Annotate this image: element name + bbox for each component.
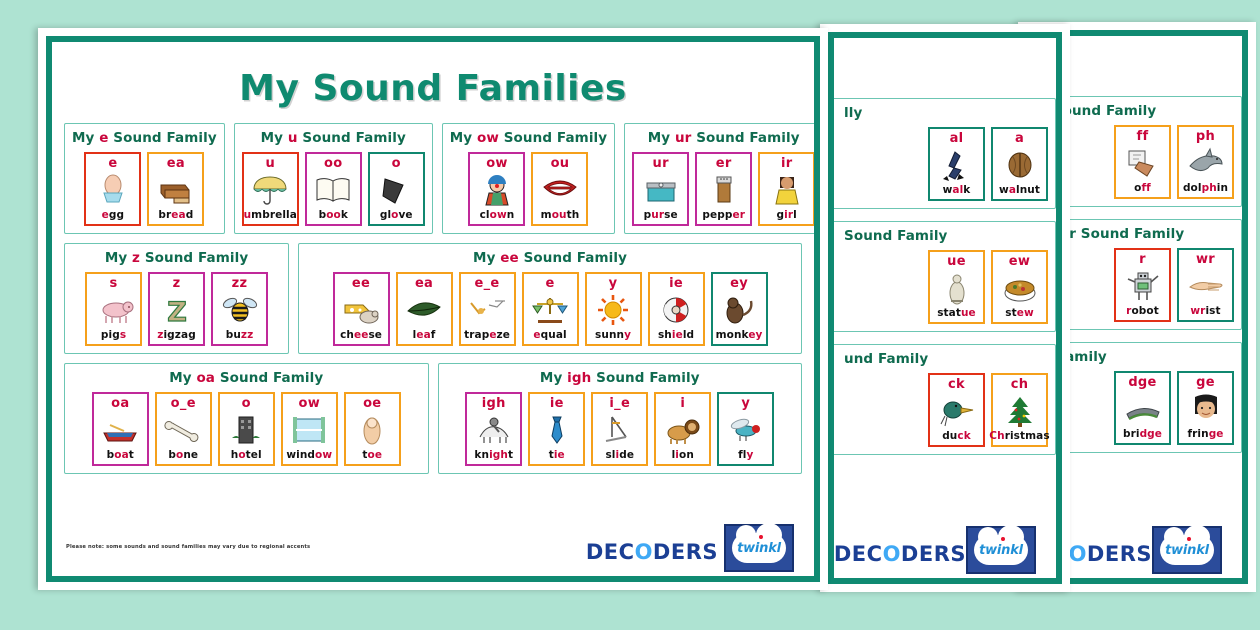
card-grapheme: ur bbox=[653, 156, 669, 171]
card-list: uumbrellaoobookoglove bbox=[242, 152, 425, 226]
card-word: fringe bbox=[1187, 428, 1223, 441]
card-list: alwalkawalnut bbox=[828, 127, 1048, 201]
sound-card-ew[interactable]: ewstew bbox=[991, 250, 1048, 324]
card-word: egg bbox=[102, 209, 124, 222]
fly-icon bbox=[720, 411, 771, 449]
sound-card-ff[interactable]: ffoff bbox=[1114, 125, 1171, 199]
sound-card-ch[interactable]: chChristmas bbox=[991, 373, 1048, 447]
sound-card-er[interactable]: erpepper bbox=[695, 152, 752, 226]
walnut-icon bbox=[994, 146, 1045, 184]
family-title: My e Sound Family bbox=[72, 130, 217, 146]
card-word: robot bbox=[1126, 305, 1159, 318]
twinkl-wordmark: twinkl bbox=[737, 541, 781, 556]
card-word: stew bbox=[1005, 307, 1034, 320]
card-grapheme: dge bbox=[1128, 375, 1156, 390]
sound-card-i[interactable]: ilion bbox=[654, 392, 711, 466]
card-grapheme: s bbox=[110, 276, 118, 291]
sound-family-u: My u Sound Familyuumbrellaoobookoglove bbox=[234, 123, 433, 234]
family-title: My ur Sound Family bbox=[632, 130, 815, 146]
leaf-icon bbox=[399, 291, 450, 329]
card-grapheme: y bbox=[741, 396, 750, 411]
sound-card-oe[interactable]: oetoe bbox=[344, 392, 401, 466]
card-grapheme: ie bbox=[550, 396, 564, 411]
card-grapheme: ck bbox=[948, 377, 965, 392]
card-grapheme: r bbox=[1139, 252, 1146, 267]
card-list: owclownoumouth bbox=[450, 152, 607, 226]
sound-card-e_e[interactable]: e_etrapeze bbox=[459, 272, 516, 346]
twinkl-badge: twinkl bbox=[966, 526, 1036, 574]
card-word: boat bbox=[107, 449, 134, 462]
family-title: My u Sound Family bbox=[242, 130, 425, 146]
card-word: monkey bbox=[716, 329, 763, 342]
card-grapheme: ff bbox=[1137, 129, 1149, 144]
card-grapheme: y bbox=[609, 276, 618, 291]
egg-in-cup-icon bbox=[87, 171, 138, 209]
card-grapheme: ow bbox=[486, 156, 508, 171]
sound-card-ph[interactable]: phdolphin bbox=[1177, 125, 1234, 199]
twinkl-wordmark: twinkl bbox=[979, 543, 1023, 558]
card-grapheme: i bbox=[680, 396, 685, 411]
card-word: fly bbox=[738, 449, 753, 462]
card-word: trapeze bbox=[464, 329, 510, 342]
card-list: urpurseerpepperirgirl bbox=[632, 152, 815, 226]
card-grapheme: e bbox=[108, 156, 117, 171]
twinkl-badge: twinkl bbox=[724, 524, 794, 572]
bridge-icon bbox=[1117, 390, 1168, 428]
sound-card-ck[interactable]: ckduck bbox=[928, 373, 985, 447]
girl-icon bbox=[761, 171, 812, 209]
card-word: buzz bbox=[226, 329, 254, 342]
background-family-1: Sound Familyuestatueewstew bbox=[828, 221, 1056, 332]
card-grapheme: o bbox=[242, 396, 251, 411]
card-word: duck bbox=[942, 430, 971, 443]
fringe-face-icon bbox=[1180, 390, 1231, 428]
scales-icon bbox=[525, 291, 576, 329]
family-title: My ee Sound Family bbox=[306, 250, 794, 266]
card-word: lion bbox=[672, 449, 694, 462]
poster-stage: f Sound FamilyffoffphdolphinMy r Sound F… bbox=[0, 0, 1260, 630]
sound-card-o_e[interactable]: o_ebone bbox=[155, 392, 212, 466]
card-word: book bbox=[319, 209, 348, 222]
card-grapheme: e bbox=[545, 276, 554, 291]
card-grapheme: o bbox=[392, 156, 401, 171]
sound-card-dge[interactable]: dgebridge bbox=[1114, 371, 1171, 445]
family-row-2: My oa Sound Familyoaboato_eboneohoteloww… bbox=[64, 363, 802, 474]
sound-card-o[interactable]: ohotel bbox=[218, 392, 275, 466]
umbrella-icon bbox=[245, 171, 296, 209]
sheet-footer: Please note: some sounds and sound famil… bbox=[52, 524, 814, 576]
card-word: bone bbox=[168, 449, 198, 462]
shield-icon bbox=[651, 291, 702, 329]
pepper-shaker-icon bbox=[698, 171, 749, 209]
sound-card-ow[interactable]: owclown bbox=[468, 152, 525, 226]
monkey-icon bbox=[714, 291, 765, 329]
sound-card-e[interactable]: eequal bbox=[522, 272, 579, 346]
sound-card-y[interactable]: yfly bbox=[717, 392, 774, 466]
sound-card-r[interactable]: rrobot bbox=[1114, 248, 1171, 322]
card-grapheme: igh bbox=[482, 396, 506, 411]
card-word: wrist bbox=[1190, 305, 1220, 318]
bone-icon bbox=[158, 411, 209, 449]
purse-icon bbox=[635, 171, 686, 209]
card-word: Christmas bbox=[989, 430, 1049, 443]
regional-accents-note: Please note: some sounds and sound famil… bbox=[66, 544, 310, 550]
family-title: My oa Sound Family bbox=[72, 370, 421, 386]
hotel-icon bbox=[221, 411, 272, 449]
sound-family-z: My z Sound FamilyspigszZzigzagzzbuzz bbox=[64, 243, 289, 354]
sound-card-s[interactable]: spigs bbox=[85, 272, 142, 346]
card-word: bridge bbox=[1123, 428, 1162, 441]
twinkl-cloud-icon: twinkl bbox=[732, 533, 786, 563]
sound-family-ee: My ee Sound Familyeecheeseealeafe_etrape… bbox=[298, 243, 802, 354]
card-word: statue bbox=[937, 307, 976, 320]
card-grapheme: i_e bbox=[609, 396, 630, 411]
card-word: cheese bbox=[340, 329, 382, 342]
dolphin-icon bbox=[1180, 144, 1231, 182]
card-grapheme: ou bbox=[551, 156, 570, 171]
card-word: equal bbox=[533, 329, 566, 342]
background-family-2: und FamilyckduckchChristmas bbox=[828, 344, 1056, 455]
sun-icon bbox=[588, 291, 639, 329]
family-row-0: My e Sound FamilyeeggeabreadMy u Sound F… bbox=[64, 123, 802, 234]
twinkl-dot-icon bbox=[759, 535, 763, 539]
decoders-logo: DECODERS bbox=[834, 542, 966, 566]
twinkl-cloud-icon: twinkl bbox=[974, 535, 1028, 565]
family-title: My igh Sound Family bbox=[446, 370, 795, 386]
family-title: My z Sound Family bbox=[72, 250, 281, 266]
twinkl-cloud-icon: twinkl bbox=[1160, 535, 1214, 565]
card-word: walnut bbox=[999, 184, 1040, 197]
card-grapheme: wr bbox=[1196, 252, 1215, 267]
knight-icon bbox=[468, 411, 519, 449]
card-word: pepper bbox=[702, 209, 745, 222]
card-grapheme: ge bbox=[1196, 375, 1215, 390]
card-word: off bbox=[1134, 182, 1151, 195]
page-title: My Sound Families bbox=[64, 68, 802, 109]
card-word: purse bbox=[644, 209, 678, 222]
lion-icon bbox=[657, 411, 708, 449]
sound-card-ow[interactable]: owwindow bbox=[281, 392, 338, 466]
card-word: toe bbox=[362, 449, 382, 462]
walk-icon bbox=[931, 146, 982, 184]
twinkl-wordmark: twinkl bbox=[1165, 543, 1209, 558]
card-list: uestatueewstew bbox=[828, 250, 1048, 324]
card-word: glove bbox=[380, 209, 413, 222]
sound-family-rows: My e Sound FamilyeeggeabreadMy u Sound F… bbox=[64, 123, 802, 474]
clown-icon bbox=[471, 171, 522, 209]
card-word: sunny bbox=[595, 329, 631, 342]
card-grapheme: ee bbox=[352, 276, 370, 291]
card-list: ighknightietiei_eslideilionyfly bbox=[446, 392, 795, 466]
card-grapheme: e_e bbox=[475, 276, 500, 291]
main-sheet: My Sound Families My e Sound Familyeegge… bbox=[38, 28, 828, 590]
sound-card-ie[interactable]: ieshield bbox=[648, 272, 705, 346]
twinkl-badge: twinkl bbox=[1152, 526, 1222, 574]
card-list: eeggeabread bbox=[72, 152, 217, 226]
tie-icon bbox=[531, 411, 582, 449]
sound-card-z[interactable]: zZzigzag bbox=[148, 272, 205, 346]
toe-icon bbox=[347, 411, 398, 449]
card-grapheme: oo bbox=[324, 156, 342, 171]
glove-icon bbox=[371, 171, 422, 209]
trapeze-icon bbox=[462, 291, 513, 329]
sound-card-ea[interactable]: ealeaf bbox=[396, 272, 453, 346]
sound-family-oa: My oa Sound Familyoaboato_eboneohoteloww… bbox=[64, 363, 429, 474]
card-word: knight bbox=[474, 449, 513, 462]
card-word: hotel bbox=[231, 449, 262, 462]
card-grapheme: ph bbox=[1196, 129, 1215, 144]
pigs-icon bbox=[88, 291, 139, 329]
cheese-mouse-icon bbox=[336, 291, 387, 329]
card-word: mouth bbox=[541, 209, 580, 222]
card-grapheme: oe bbox=[363, 396, 381, 411]
sound-card-ir[interactable]: irgirl bbox=[758, 152, 815, 226]
card-word: girl bbox=[777, 209, 797, 222]
sound-card-i_e[interactable]: i_eslide bbox=[591, 392, 648, 466]
card-word: dolphin bbox=[1183, 182, 1228, 195]
background-family-title: Sound Family bbox=[828, 228, 1048, 244]
sound-card-ue[interactable]: uestatue bbox=[928, 250, 985, 324]
sound-card-a[interactable]: awalnut bbox=[991, 127, 1048, 201]
card-list: oaboato_eboneohotelowwindowoetoe bbox=[72, 392, 421, 466]
sound-family-e: My e Sound Familyeeggeabread bbox=[64, 123, 225, 234]
sound-card-o[interactable]: oglove bbox=[368, 152, 425, 226]
background-footer: DECODERStwinkl bbox=[834, 526, 1056, 578]
sound-card-ea[interactable]: eabread bbox=[147, 152, 204, 226]
boat-icon bbox=[95, 411, 146, 449]
open-book-icon bbox=[308, 171, 359, 209]
christmas-tree-icon bbox=[994, 392, 1045, 430]
off-switch-icon bbox=[1117, 144, 1168, 182]
card-grapheme: z bbox=[173, 276, 181, 291]
decoders-logo: DECODERS bbox=[586, 540, 718, 564]
card-grapheme: ow bbox=[298, 396, 320, 411]
duck-icon bbox=[931, 392, 982, 430]
card-word: window bbox=[286, 449, 332, 462]
svg-text:Z: Z bbox=[167, 297, 187, 327]
sound-card-igh[interactable]: ighknight bbox=[465, 392, 522, 466]
card-grapheme: oa bbox=[111, 396, 129, 411]
sound-family-igh: My igh Sound Familyighknightietiei_eslid… bbox=[438, 363, 803, 474]
mouth-icon bbox=[534, 171, 585, 209]
sound-card-zz[interactable]: zzbuzz bbox=[211, 272, 268, 346]
sound-card-al[interactable]: alwalk bbox=[928, 127, 985, 201]
card-word: umbrella bbox=[244, 209, 297, 222]
sound-card-wr[interactable]: wrwrist bbox=[1177, 248, 1234, 322]
bread-loaf-icon bbox=[150, 171, 201, 209]
card-list: eecheeseealeafe_etrapezeeequalysunnyiesh… bbox=[306, 272, 794, 346]
card-word: leaf bbox=[413, 329, 436, 342]
stew-icon bbox=[994, 269, 1045, 307]
letter-z-icon: Z bbox=[151, 291, 202, 329]
card-grapheme: er bbox=[716, 156, 732, 171]
card-word: bread bbox=[158, 209, 193, 222]
card-grapheme: ue bbox=[947, 254, 966, 269]
background-family-title: lly bbox=[828, 105, 1048, 121]
sound-card-ie[interactable]: ietie bbox=[528, 392, 585, 466]
card-grapheme: al bbox=[950, 131, 964, 146]
background-sheet-middle: llyalwalkawalnutSound Familyuestatueewst… bbox=[820, 24, 1070, 592]
card-word: slide bbox=[605, 449, 634, 462]
card-grapheme: ea bbox=[167, 156, 185, 171]
card-grapheme: ie bbox=[669, 276, 683, 291]
card-word: tie bbox=[549, 449, 565, 462]
sound-card-oo[interactable]: oobook bbox=[305, 152, 362, 226]
sound-card-ge[interactable]: gefringe bbox=[1177, 371, 1234, 445]
sound-card-ou[interactable]: oumouth bbox=[531, 152, 588, 226]
sound-family-ow: My ow Sound Familyowclownoumouth bbox=[442, 123, 615, 234]
sound-card-ur[interactable]: urpurse bbox=[632, 152, 689, 226]
background-family-0: llyalwalkawalnut bbox=[828, 98, 1056, 209]
sound-family-ur: My ur Sound Familyurpurseerpepperirgirl bbox=[624, 123, 820, 234]
card-grapheme: ir bbox=[781, 156, 792, 171]
card-grapheme: zz bbox=[232, 276, 248, 291]
statue-icon bbox=[931, 269, 982, 307]
card-word: zigzag bbox=[157, 329, 196, 342]
sound-card-ey[interactable]: eymonkey bbox=[711, 272, 768, 346]
sound-card-oa[interactable]: oaboat bbox=[92, 392, 149, 466]
card-word: walk bbox=[943, 184, 971, 197]
card-grapheme: ch bbox=[1011, 377, 1029, 392]
twinkl-dot-icon bbox=[1001, 537, 1005, 541]
slide-icon bbox=[594, 411, 645, 449]
wrist-icon bbox=[1180, 267, 1231, 305]
window-icon bbox=[284, 411, 335, 449]
card-word: clown bbox=[480, 209, 515, 222]
sound-card-y[interactable]: ysunny bbox=[585, 272, 642, 346]
card-grapheme: ew bbox=[1009, 254, 1030, 269]
card-grapheme: u bbox=[265, 156, 275, 171]
bee-icon bbox=[214, 291, 265, 329]
twinkl-dot-icon bbox=[1187, 537, 1191, 541]
robot-icon bbox=[1117, 267, 1168, 305]
sound-card-u[interactable]: uumbrella bbox=[242, 152, 299, 226]
background-family-title: und Family bbox=[828, 351, 1048, 367]
card-grapheme: ea bbox=[415, 276, 433, 291]
card-list: ckduckchChristmas bbox=[828, 373, 1048, 447]
card-grapheme: a bbox=[1015, 131, 1024, 146]
family-row-1: My z Sound FamilyspigszZzigzagzzbuzzMy e… bbox=[64, 243, 802, 354]
card-word: shield bbox=[658, 329, 694, 342]
card-grapheme: ey bbox=[730, 276, 748, 291]
family-title: My ow Sound Family bbox=[450, 130, 607, 146]
card-word: pigs bbox=[101, 329, 126, 342]
sound-card-e[interactable]: eegg bbox=[84, 152, 141, 226]
card-grapheme: o_e bbox=[171, 396, 196, 411]
sound-card-ee[interactable]: eecheese bbox=[333, 272, 390, 346]
card-list: spigszZzigzagzzbuzz bbox=[72, 272, 281, 346]
